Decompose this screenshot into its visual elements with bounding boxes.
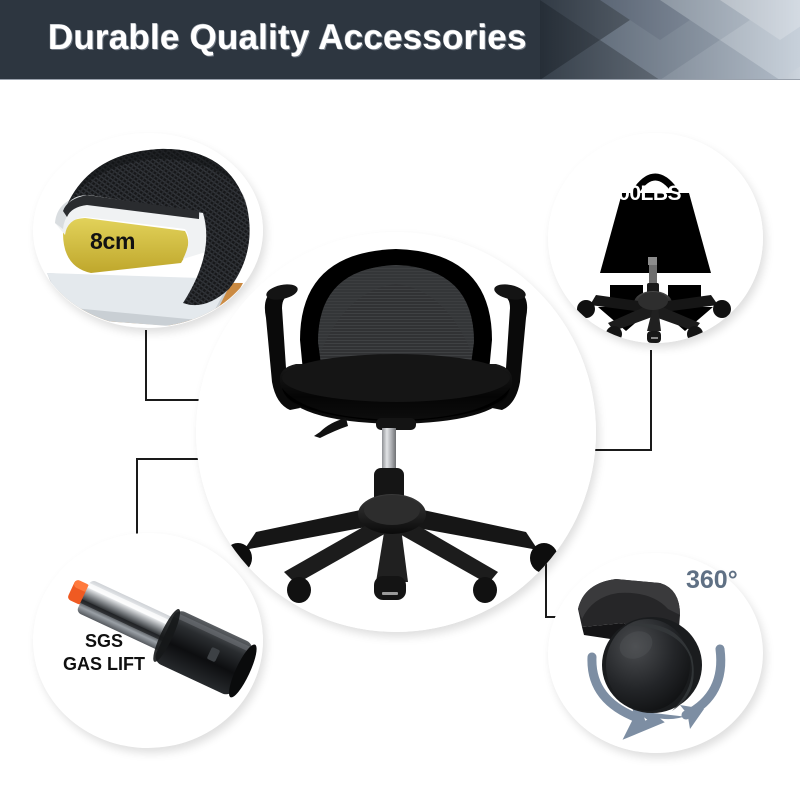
header-banner: Durable Quality Accessories bbox=[0, 0, 800, 80]
page-title: Durable Quality Accessories bbox=[48, 18, 527, 58]
header-divider bbox=[0, 79, 800, 80]
connector-line-gaslift-vertical bbox=[136, 458, 138, 536]
infographic-canvas: Durable Quality Accessories bbox=[0, 0, 800, 800]
weight-capacity-label: 300LBS bbox=[607, 182, 681, 206]
diamond-gradient-pattern bbox=[540, 0, 800, 80]
gas-lift-label-line2: GAS LIFT bbox=[62, 653, 146, 676]
caster-rotation-label: 360° bbox=[686, 566, 738, 595]
gas-lift-label-line1: SGS bbox=[62, 630, 146, 653]
cushion-thickness-label: 8cm bbox=[90, 228, 135, 255]
connector-line-weight-vertical bbox=[650, 350, 652, 450]
gas-lift-label: SGS GAS LIFT bbox=[62, 630, 146, 676]
connector-line-cushion-vertical bbox=[145, 330, 147, 400]
